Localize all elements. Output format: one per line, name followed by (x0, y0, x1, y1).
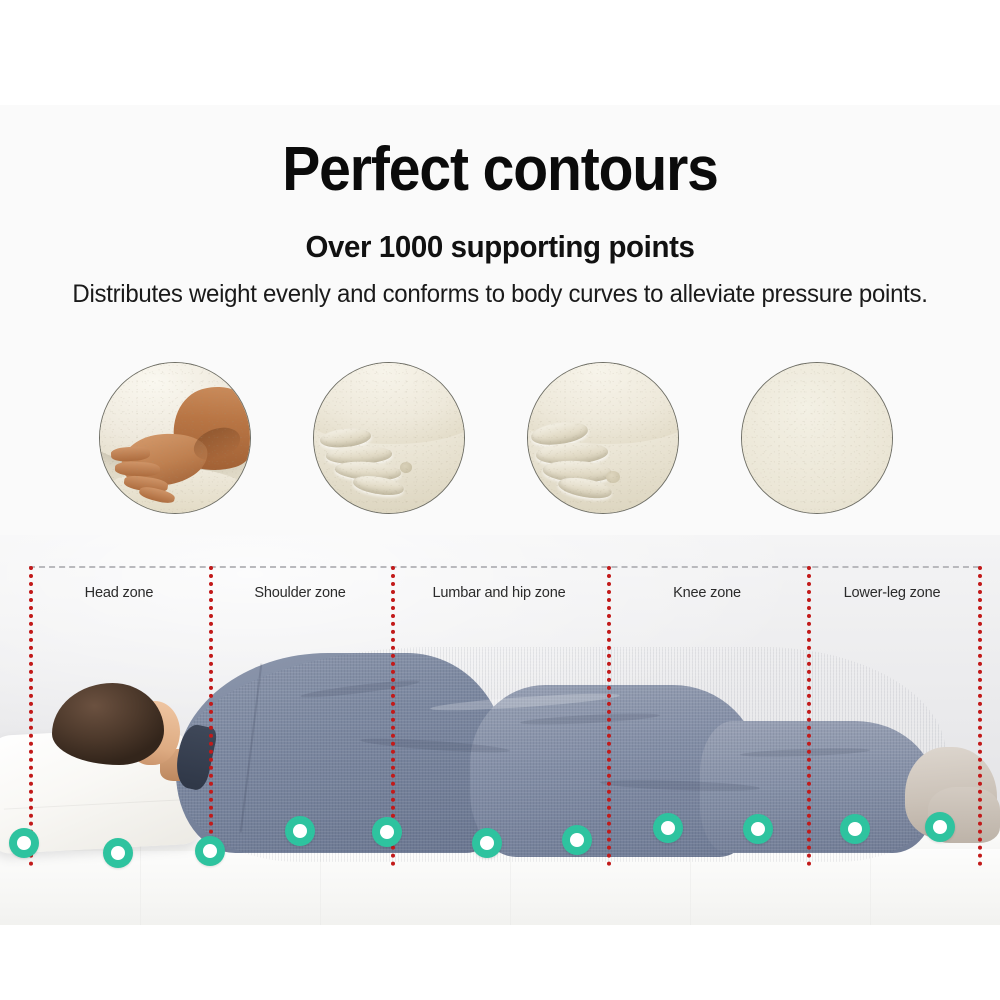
zone-divider-5 (978, 566, 982, 866)
foam-texture (100, 363, 250, 513)
support-point-ring-9 (743, 814, 773, 844)
foam-texture (742, 363, 892, 513)
support-point-ring-8 (653, 813, 683, 843)
foam-step-4-restored-icon (741, 362, 893, 514)
foam-texture (528, 363, 678, 513)
support-point-ring-10 (840, 814, 870, 844)
zone-divider-0 (29, 566, 33, 866)
zone-label-shoulder: Shoulder zone (184, 584, 417, 601)
page-description: Distributes weight evenly and conforms t… (20, 280, 980, 309)
support-point-ring-4 (285, 816, 315, 846)
page-subtitle: Over 1000 supporting points (25, 229, 975, 265)
page-title: Perfect contours (40, 139, 960, 201)
zone-label-lumbar-hip: Lumbar and hip zone (383, 584, 616, 601)
support-point-ring-2 (103, 838, 133, 868)
zone-top-dashed-line (29, 566, 979, 568)
zone-overlay: Head zone Shoulder zone Lumbar and hip z… (29, 566, 979, 866)
zone-divider-3 (607, 566, 611, 866)
zone-label-lower-leg: Lower-leg zone (776, 584, 1000, 601)
zone-divider-4 (807, 566, 811, 866)
support-point-ring-7 (562, 825, 592, 855)
support-point-ring-6 (472, 828, 502, 858)
support-point-ring-1 (9, 828, 39, 858)
foam-texture (314, 363, 464, 513)
foam-step-3-recovering-icon (527, 362, 679, 514)
foam-recovery-sequence (0, 358, 1000, 518)
top-white-band (0, 0, 1000, 105)
foam-step-1-hand-pressing-icon (99, 362, 251, 514)
support-point-ring-11 (925, 812, 955, 842)
bottom-white-band (0, 925, 1000, 1000)
foam-step-2-deep-imprint-icon (313, 362, 465, 514)
support-point-ring-3 (195, 836, 225, 866)
zone-divider-1 (209, 566, 213, 866)
infographic-page: Perfect contours Over 1000 supporting po… (0, 0, 1000, 1000)
support-point-ring-5 (372, 817, 402, 847)
